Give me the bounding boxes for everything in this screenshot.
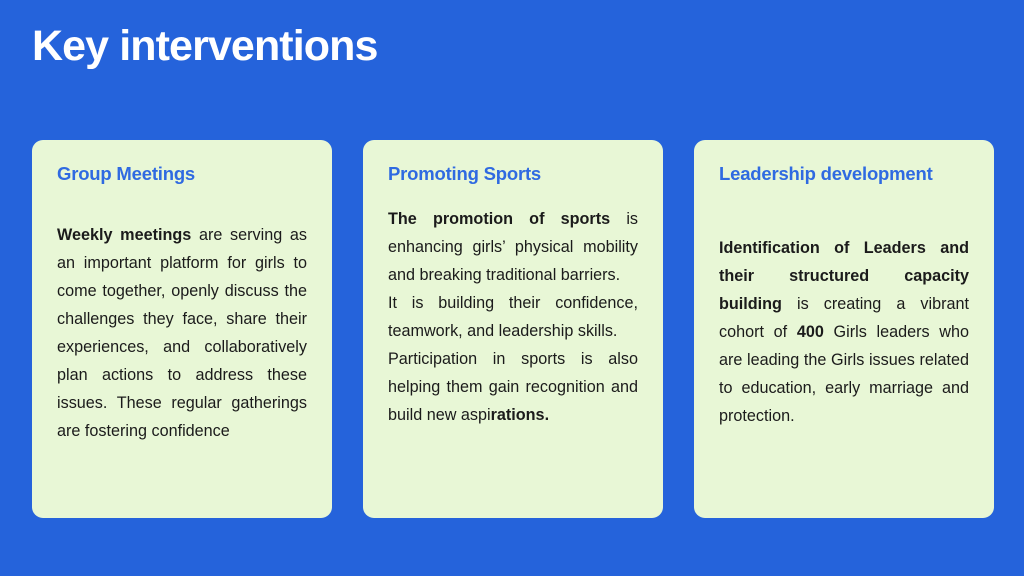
body-text-bold: The promotion of sports bbox=[388, 210, 610, 228]
body-text: are serving as an important platform for… bbox=[57, 226, 307, 440]
cards-row: Group Meetings Weekly meetings are servi… bbox=[32, 140, 994, 518]
card-body: Identification of Leaders and their stru… bbox=[719, 234, 969, 430]
card-heading: Group Meetings bbox=[57, 162, 307, 185]
card-leadership-development: Leadership development Identification of… bbox=[694, 140, 994, 518]
body-text-bold: Weekly meetings bbox=[57, 226, 191, 244]
body-text: It is building their confidence, teamwor… bbox=[388, 294, 638, 340]
card-body: The promotion of sports is enhancing gir… bbox=[388, 205, 638, 429]
page-title: Key interventions bbox=[32, 21, 378, 73]
slide-canvas: Key interventions Group Meetings Weekly … bbox=[0, 0, 1024, 576]
card-group-meetings: Group Meetings Weekly meetings are servi… bbox=[32, 140, 332, 518]
body-text-bold: 400 bbox=[797, 323, 824, 341]
card-promoting-sports: Promoting Sports The promotion of sports… bbox=[363, 140, 663, 518]
card-body: Weekly meetings are serving as an import… bbox=[57, 221, 307, 445]
card-heading: Leadership development bbox=[719, 162, 969, 185]
body-text-bold: rations. bbox=[491, 406, 549, 424]
card-heading: Promoting Sports bbox=[388, 162, 638, 185]
